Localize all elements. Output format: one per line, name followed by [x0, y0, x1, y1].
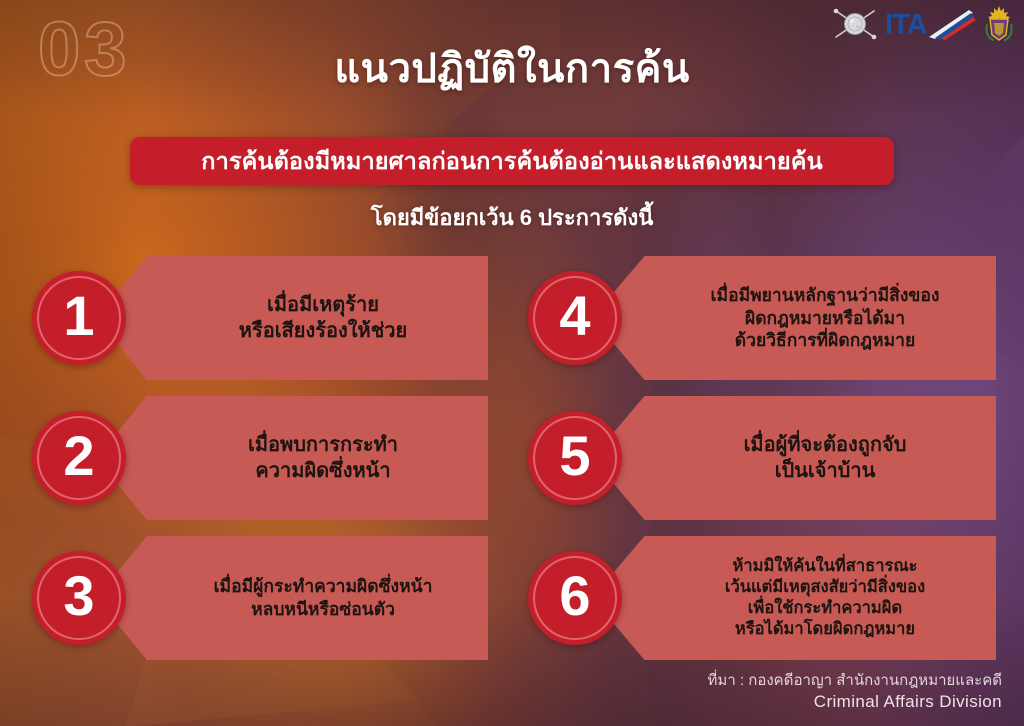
item-number-4: 4: [559, 288, 590, 344]
item-badge-1: 1: [32, 271, 126, 365]
item-arrow-6: ห้ามมิให้ค้นในที่สาธารณะ เว้นแต่มีเหตุสง…: [592, 536, 996, 660]
list-item-3: 3 เมื่อมีผู้กระทำความผิดซึ่งหน้า หลบหนีห…: [32, 536, 488, 660]
main-statement-banner: การค้นต้องมีหมายศาลก่อนการค้นต้องอ่านและ…: [130, 137, 894, 185]
item-text-6: ห้ามมิให้ค้นในที่สาธารณะ เว้นแต่มีเหตุสง…: [725, 556, 925, 639]
exception-items-grid: 1 เมื่อมีเหตุร้าย หรือเสียงร้องให้ช่วย 2…: [0, 256, 1024, 656]
item-text-1: เมื่อมีเหตุร้าย หรือเสียงร้องให้ช่วย: [239, 292, 407, 345]
item-arrow-3: เมื่อมีผู้กระทำความผิดซึ่งหน้า หลบหนีหรื…: [96, 536, 488, 660]
footer-english-text: Criminal Affairs Division: [708, 691, 1002, 714]
item-text-3: เมื่อมีผู้กระทำความผิดซึ่งหน้า หลบหนีหรื…: [214, 575, 433, 621]
subtitle: โดยมีข้อยกเว้น 6 ประการดังนี้: [0, 200, 1024, 235]
item-badge-2: 2: [32, 411, 126, 505]
item-number-6: 6: [559, 568, 590, 624]
footer-source-text: ที่มา : กองคดีอาญา สำนักงานกฎหมายและคดี: [708, 671, 1002, 691]
list-item-2: 2 เมื่อพบการกระทำ ความผิดซึ่งหน้า: [32, 396, 488, 520]
item-badge-3: 3: [32, 551, 126, 645]
item-number-5: 5: [559, 428, 590, 484]
item-text-4: เมื่อมีพยานหลักฐานว่ามีสิ่งของ ผิดกฎหมาย…: [711, 284, 940, 352]
footer-credit: ที่มา : กองคดีอาญา สำนักงานกฎหมายและคดี …: [708, 671, 1002, 714]
item-text-2: เมื่อพบการกระทำ ความผิดซึ่งหน้า: [248, 432, 398, 485]
item-number-1: 1: [63, 288, 94, 344]
item-arrow-1: เมื่อมีเหตุร้าย หรือเสียงร้องให้ช่วย: [96, 256, 488, 380]
item-text-5: เมื่อผู้ที่จะต้องถูกจับ เป็นเจ้าบ้าน: [744, 432, 907, 485]
list-item-1: 1 เมื่อมีเหตุร้าย หรือเสียงร้องให้ช่วย: [32, 256, 488, 380]
item-badge-6: 6: [528, 551, 622, 645]
item-number-3: 3: [63, 568, 94, 624]
infographic-poster: 03 ITA: [0, 0, 1024, 726]
item-badge-5: 5: [528, 411, 622, 505]
item-number-2: 2: [63, 428, 94, 484]
item-badge-4: 4: [528, 271, 622, 365]
item-arrow-2: เมื่อพบการกระทำ ความผิดซึ่งหน้า: [96, 396, 488, 520]
page-title: แนวปฏิบัติในการค้น: [0, 36, 1024, 100]
item-arrow-5: เมื่อผู้ที่จะต้องถูกจับ เป็นเจ้าบ้าน: [592, 396, 996, 520]
item-arrow-4: เมื่อมีพยานหลักฐานว่ามีสิ่งของ ผิดกฎหมาย…: [592, 256, 996, 380]
list-item-6: 6 ห้ามมิให้ค้นในที่สาธารณะ เว้นแต่มีเหตุ…: [528, 536, 996, 660]
list-item-5: 5 เมื่อผู้ที่จะต้องถูกจับ เป็นเจ้าบ้าน: [528, 396, 996, 520]
list-item-4: 4 เมื่อมีพยานหลักฐานว่ามีสิ่งของ ผิดกฎหม…: [528, 256, 996, 380]
